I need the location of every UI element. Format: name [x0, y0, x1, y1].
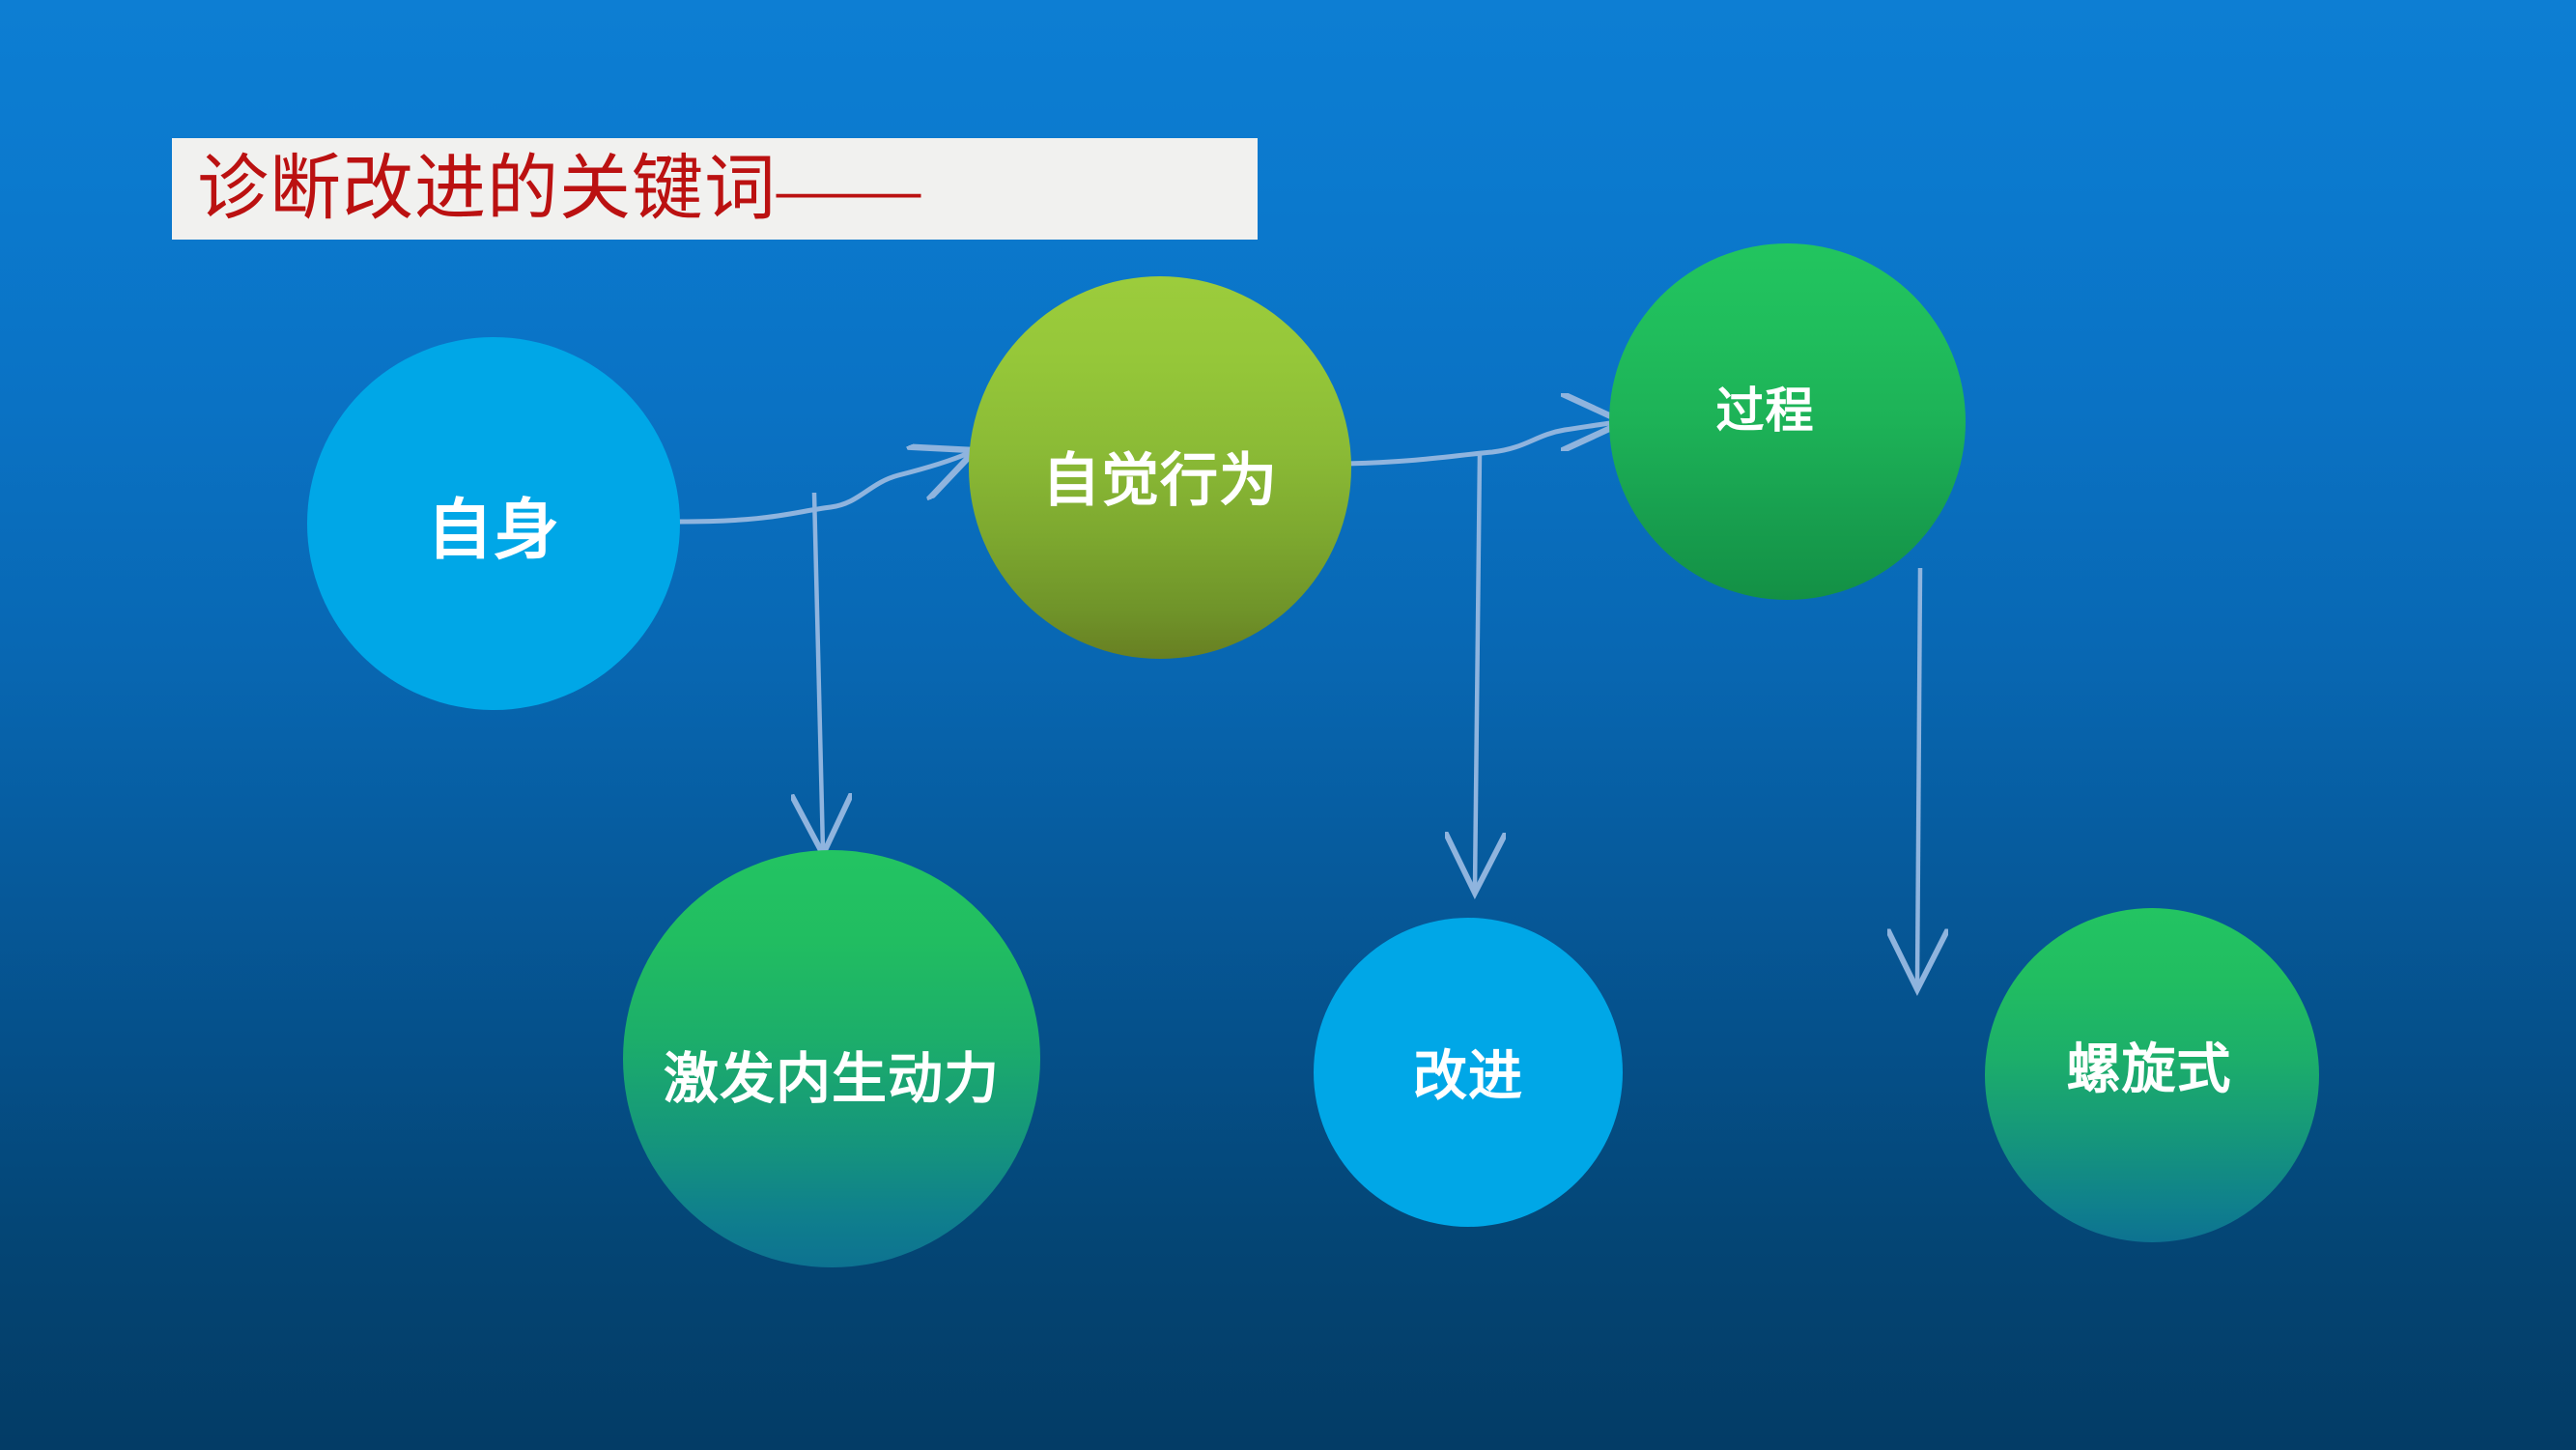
node-improve-label: 改进 — [1413, 1033, 1523, 1111]
connector-branch-to-motivation — [814, 493, 823, 850]
connector-self-to-behavior — [679, 452, 971, 522]
connector-process-to-spiral — [1917, 568, 1920, 985]
node-improve[interactable]: 改进 — [1314, 918, 1623, 1227]
node-behavior[interactable]: 自觉行为 — [969, 276, 1351, 659]
connector-behavior-to-process — [1345, 422, 1619, 464]
node-behavior-label: 自觉行为 — [1042, 434, 1278, 518]
node-process[interactable]: 过程 — [1609, 243, 1966, 600]
connector-branch-to-improve — [1475, 452, 1480, 889]
page-title: 诊断改进的关键词—— — [197, 154, 921, 225]
slide-title-box: 诊断改进的关键词—— — [172, 138, 1258, 240]
node-motivation-label: 激发内生动力 — [664, 1035, 1000, 1114]
node-self-label: 自身 — [427, 476, 560, 572]
slide-canvas: 诊断改进的关键词—— 自身 自觉行为 过程 激发内生动力 — [0, 0, 2576, 1450]
node-process-label: 过程 — [1716, 372, 1815, 441]
node-self[interactable]: 自身 — [307, 337, 680, 710]
node-spiral[interactable]: 螺旋式 — [1985, 908, 2319, 1242]
node-motivation[interactable]: 激发内生动力 — [623, 850, 1040, 1267]
node-spiral-label: 螺旋式 — [2067, 1026, 2232, 1104]
